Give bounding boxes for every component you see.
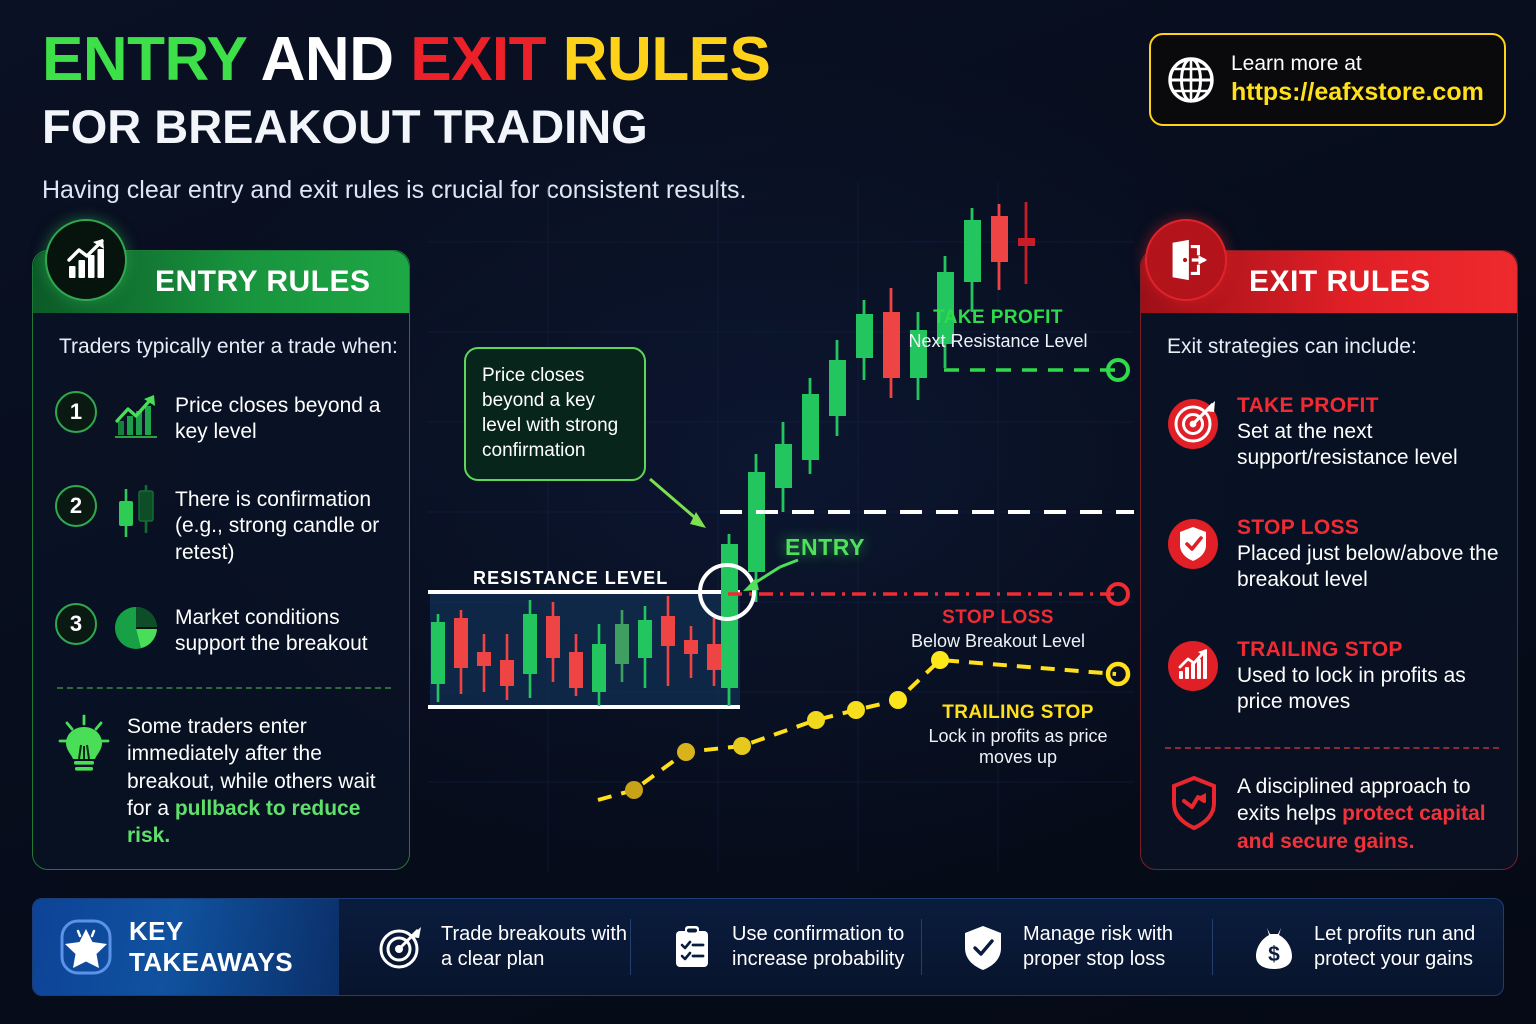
exit-rule-1-title: TAKE PROFIT [1237,393,1505,418]
entry-panel-intro: Traders typically enter a trade when: [59,335,398,359]
trailing-stop-marker [1108,664,1128,684]
page-title: ENTRY AND EXIT RULES [42,28,942,91]
entry-rule-1-number: 1 [55,391,97,433]
key-takeaways-label: KEY TAKEAWAYS [33,899,339,995]
growth-chart-icon [45,219,127,301]
title-word-exit: EXIT [410,25,546,94]
exit-panel-intro: Exit strategies can include: [1167,335,1417,359]
takeaway-item-2: Use confirmation to increase probability [630,899,921,995]
resistance-level-label: RESISTANCE LEVEL [473,568,668,589]
target-icon [377,923,425,971]
entry-label: ENTRY [785,534,865,561]
entry-rule-2: 2 There is confirmation (e.g., strong ca… [55,485,395,566]
exit-rules-panel: EXIT RULES Exit strategies can include: … [1140,250,1518,870]
callout-arrow [650,479,706,528]
entry-rule-1: 1 Price closes beyond a key level [55,391,395,446]
entry-panel-divider [57,687,391,689]
breakout-chart: Price closes beyond a key level with str… [428,182,1134,872]
title-word-rules: RULES [563,25,771,94]
learn-more-badge[interactable]: Learn more at https://eafxstore.com [1149,33,1506,126]
svg-text:$: $ [1268,943,1280,966]
exit-rule-take-profit: TAKE PROFIT Set at the next support/resi… [1165,393,1505,472]
exit-rule-2-desc: Placed just below/above the breakout lev… [1237,541,1505,594]
shield-check-icon [1165,515,1223,573]
takeaway-item-2-text: Use confirmation to increase probability [732,922,921,972]
key-takeaways-bar: KEY TAKEAWAYS Trade breakouts with a cle… [32,898,1504,996]
entry-rule-2-text: There is confirmation (e.g., strong cand… [175,485,395,566]
trailing-stop-annotation: TRAILING STOP Lock in profits as price m… [918,702,1118,768]
exit-rule-2-title: STOP LOSS [1237,515,1505,540]
exit-rule-1-desc: Set at the next support/resistance level [1237,419,1505,472]
shield-check-icon [959,923,1007,971]
target-icon [1165,393,1223,451]
exit-tip: A disciplined approach to exits helps pr… [1165,773,1505,855]
exit-rule-3-title: TRAILING STOP [1237,637,1505,662]
trending-up-icon [1165,637,1223,695]
exit-door-icon [1145,219,1227,301]
title-word-entry: ENTRY [42,25,246,94]
takeaway-item-3-text: Manage risk with proper stop loss [1023,922,1212,972]
star-icon [59,918,113,976]
pie-chart-icon [109,603,163,653]
growth-chart-icon [109,391,163,441]
candlestick-icon [109,485,163,535]
clipboard-check-icon [668,923,716,971]
exit-rule-trailing-stop: TRAILING STOP Used to lock in profits as… [1165,637,1505,716]
entry-tip-text: Some traders enter immediately after the… [127,713,389,849]
lightbulb-icon [55,713,113,775]
money-bag-icon: $ [1250,923,1298,971]
entry-rule-3-text: Market conditions support the breakout [175,603,395,658]
take-profit-annotation-sub: Next Resistance Level [898,331,1098,352]
entry-rule-3: 3 Market conditions support the breakout [55,603,395,658]
stop-loss-annotation-sub: Below Breakout Level [898,631,1098,652]
trailing-stop-annotation-sub: Lock in profits as price moves up [918,726,1118,768]
take-profit-annotation: TAKE PROFIT Next Resistance Level [898,307,1098,352]
learn-more-label: Learn more at [1231,52,1484,76]
globe-icon [1165,54,1217,106]
stop-loss-annotation: STOP LOSS Below Breakout Level [898,607,1098,652]
entry-rules-panel: ENTRY RULES Traders typically enter a tr… [32,250,410,870]
learn-more-url[interactable]: https://eafxstore.com [1231,77,1484,107]
exit-rule-stop-loss: STOP LOSS Placed just below/above the br… [1165,515,1505,594]
takeaway-item-3: Manage risk with proper stop loss [921,899,1212,995]
entry-rule-3-number: 3 [55,603,97,645]
exit-tip-text: A disciplined approach to exits helps pr… [1237,773,1505,855]
entry-rule-1-text: Price closes beyond a key level [175,391,395,446]
callout-text: Price closes beyond a key level with str… [482,363,630,463]
takeaway-item-1: Trade breakouts with a clear plan [339,899,630,995]
stop-loss-annotation-title: STOP LOSS [898,607,1098,629]
takeaway-item-4-text: Let profits run and protect your gains [1314,922,1503,972]
exit-panel-divider [1165,747,1499,749]
takeaway-item-4: $ Let profits run and protect your gains [1212,899,1503,995]
shield-arrow-icon [1165,773,1223,831]
chart-gridlines [428,182,1134,872]
page-header: ENTRY AND EXIT RULES FOR BREAKOUT TRADIN… [42,28,942,205]
entry-tip: Some traders enter immediately after the… [55,713,389,849]
key-takeaways-title: KEY TAKEAWAYS [129,916,339,978]
chart-canvas [428,182,1134,872]
takeaway-item-1-text: Trade breakouts with a clear plan [441,922,630,972]
price-closes-callout: Price closes beyond a key level with str… [464,347,646,481]
trailing-stop-annotation-title: TRAILING STOP [918,702,1118,724]
take-profit-annotation-title: TAKE PROFIT [898,307,1098,329]
entry-rule-2-number: 2 [55,485,97,527]
page-subtitle-heading: FOR BREAKOUT TRADING [42,99,942,154]
exit-rule-3-desc: Used to lock in profits as price moves [1237,663,1505,716]
title-word-and: AND [261,25,394,94]
